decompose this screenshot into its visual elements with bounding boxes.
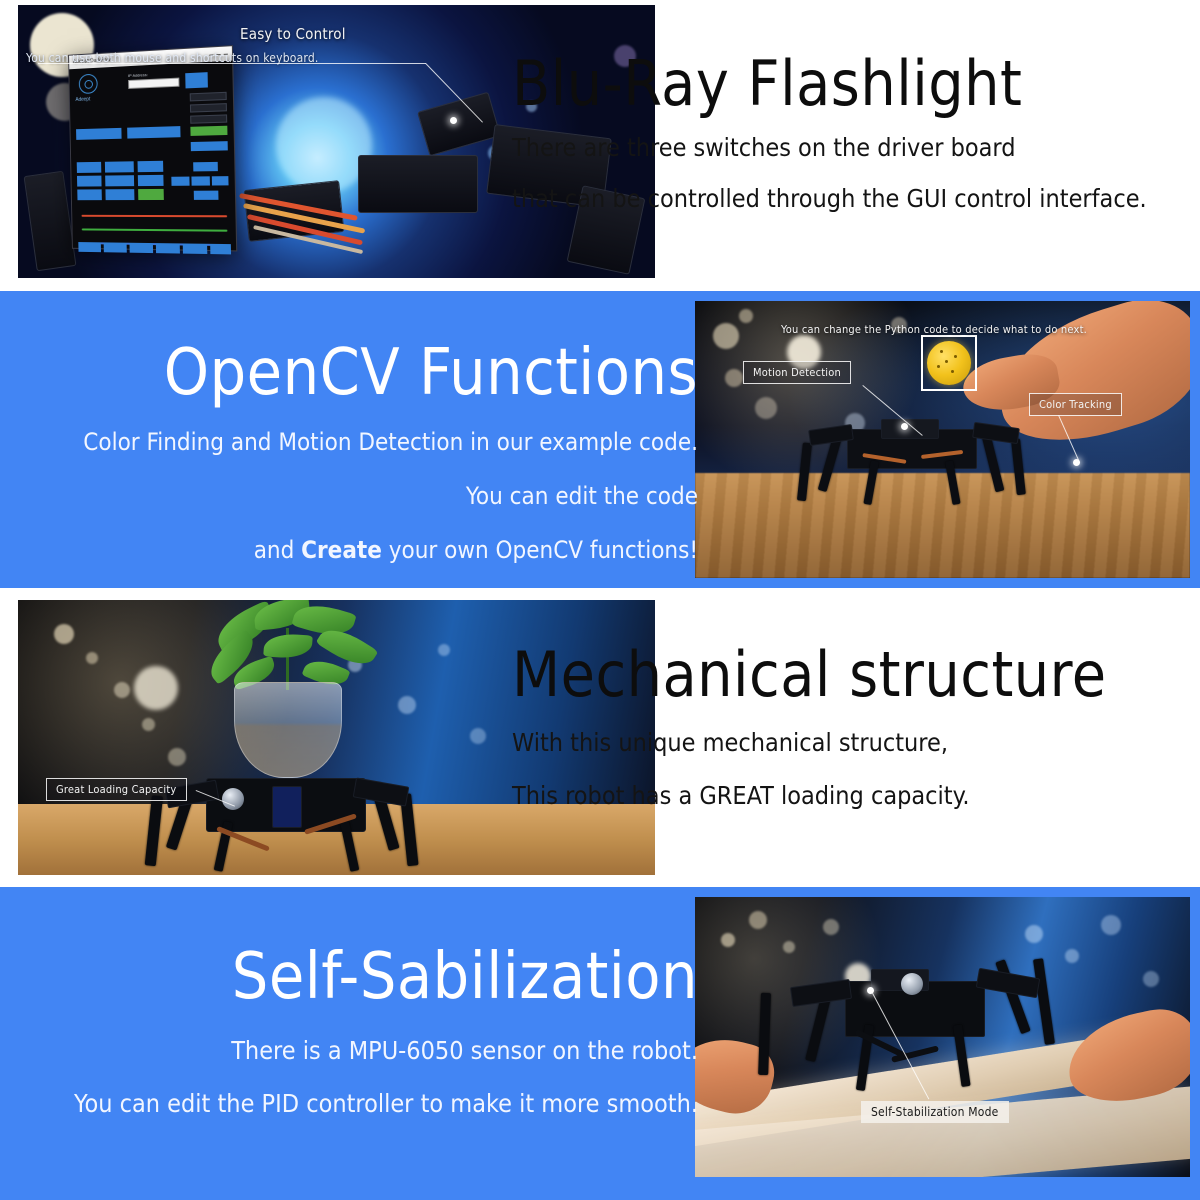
subline-flashlight-1: There are three switches on the driver b… — [512, 133, 1147, 162]
adeept-logo-icon — [79, 74, 98, 94]
callout-node-motion — [901, 423, 908, 430]
callout-node-stabilize — [867, 987, 874, 994]
gui-graph-area — [81, 215, 227, 216]
gui-switch-1[interactable] — [78, 242, 101, 252]
gui-function-1[interactable] — [156, 243, 180, 253]
subline-stabilize-2: You can edit the PID controller to make … — [8, 1089, 698, 1118]
gui-ip-input[interactable] — [128, 78, 179, 89]
callout-python-code: You can change the Python code to decide… — [781, 323, 1087, 336]
gui-ip-label: IP Address: — [128, 72, 148, 78]
subline-opencv-3-pre: and — [254, 536, 301, 564]
subline-stabilize-1: There is a MPU-6050 sensor on the robot. — [8, 1036, 698, 1065]
subline-opencv-3-bold: Create — [301, 536, 382, 564]
gui-function-2[interactable] — [183, 243, 208, 254]
subline-opencv-3-post: your own OpenCV functions! — [382, 536, 698, 564]
text-mechanical: Mechanical structure With this unique me… — [512, 643, 1107, 810]
callout-color-tracking: Color Tracking — [1029, 393, 1122, 416]
callout-easy-to-control: Easy to Control — [240, 25, 346, 43]
gui-video-button[interactable] — [76, 128, 122, 140]
text-flashlight: Blu-Ray Flashlight There are three switc… — [512, 52, 1147, 213]
section-stabilize: Self-Stabilization Mode Self-Sabilizatio… — [0, 887, 1200, 1200]
photo-opencv: You can change the Python code to decide… — [695, 301, 1190, 578]
gui-body: Adeept IP Address: — [69, 61, 236, 251]
glass-planter — [234, 682, 342, 778]
gui-dpad-turn[interactable] — [138, 161, 164, 172]
section-mechanical: Great Loading Capacity Mechanical struct… — [0, 588, 1200, 887]
section-flashlight: Adeept DarkPaw Adeept IP Address: — [0, 0, 1200, 291]
gui-switch-3[interactable] — [129, 243, 153, 253]
gui-status-ram — [190, 114, 227, 123]
gui-side-low[interactable] — [171, 177, 189, 186]
subline-opencv-3: and Create your own OpenCV functions! — [8, 536, 698, 564]
mpu-sensor-module — [901, 973, 923, 995]
heading-flashlight: Blu-Ray Flashlight — [512, 52, 1147, 115]
subline-opencv-2: You can edit the code — [8, 482, 698, 510]
callout-great-loading-capacity: Great Loading Capacity — [46, 778, 187, 801]
gui-dpad-stand1[interactable] — [105, 189, 134, 200]
gui-window[interactable]: Adeept DarkPaw Adeept IP Address: — [68, 45, 237, 251]
gui-side-prev[interactable] — [191, 176, 210, 185]
opencv-scene: You can change the Python code to decide… — [695, 301, 1190, 578]
gui-dpad-stand2[interactable] — [105, 175, 134, 186]
color-tracking-bounding-box — [921, 335, 977, 391]
gui-motionget-button[interactable] — [191, 141, 228, 151]
callout-motion-detection: Motion Detection — [743, 361, 851, 384]
gui-brand-label: Adeept — [75, 97, 90, 103]
gui-dpad-stand3[interactable] — [138, 189, 164, 200]
gui-connect-status — [190, 126, 227, 136]
heading-opencv: OpenCV Functions — [8, 341, 698, 406]
subline-opencv-1: Color Finding and Motion Detection in ou… — [8, 428, 698, 456]
gui-dpad-right[interactable] — [138, 175, 164, 186]
heading-mechanical: Mechanical structure — [512, 643, 1107, 706]
subline-mechanical-2: This robot has a GREAT loading capacity. — [512, 781, 1107, 810]
gui-dpad-forward[interactable] — [105, 161, 134, 172]
gui-status-temp — [190, 103, 227, 113]
infographic-page: Adeept DarkPaw Adeept IP Address: — [0, 0, 1200, 1200]
stabilize-scene: Self-Stabilization Mode — [695, 897, 1190, 1177]
subline-flashlight-2: that can be controlled through the GUI c… — [512, 184, 1147, 213]
gui-side-high[interactable] — [212, 176, 229, 185]
gui-dpad-steady[interactable] — [77, 189, 102, 200]
leader-line-control — [38, 63, 426, 64]
text-opencv: OpenCV Functions Color Finding and Motio… — [8, 341, 698, 564]
section-opencv: You can change the Python code to decide… — [0, 291, 1200, 588]
heading-stabilize: Self-Sabilization — [8, 945, 698, 1010]
gui-findcolor-button[interactable] — [127, 126, 180, 138]
gui-dpad-up[interactable] — [77, 162, 102, 173]
subline-mechanical-1: With this unique mechanical structure, — [512, 728, 1107, 757]
gui-led-full[interactable] — [210, 244, 231, 255]
gui-side-auto[interactable] — [194, 191, 219, 200]
gui-switch-2[interactable] — [104, 242, 127, 252]
photo-stabilize: Self-Stabilization Mode — [695, 897, 1190, 1177]
gui-connect-button[interactable] — [185, 72, 208, 88]
gui-dpad-left[interactable] — [77, 176, 102, 187]
callout-node-control — [450, 117, 457, 124]
text-stabilize: Self-Sabilization There is a MPU-6050 se… — [8, 945, 698, 1118]
gui-side-up[interactable] — [193, 162, 218, 172]
callout-node-color — [1073, 459, 1080, 466]
callout-self-stabilization-mode: Self-Stabilization Mode — [861, 1101, 1009, 1123]
gui-status-cpu — [190, 92, 227, 102]
